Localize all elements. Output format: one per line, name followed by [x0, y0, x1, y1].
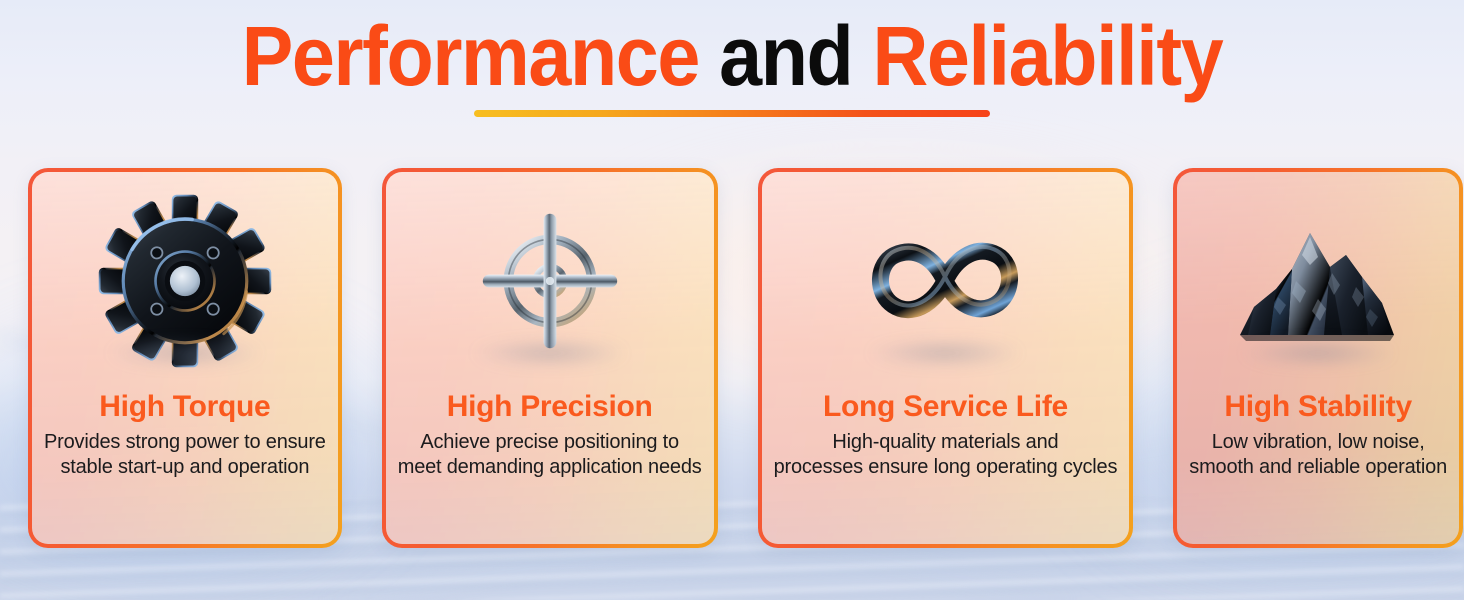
feature-card-body: High Precision Achieve precise positioni…: [386, 172, 714, 544]
card-description-line-1: Provides strong power to ensure: [44, 430, 326, 455]
feature-card-row: High Torque Provides strong power to ens…: [28, 168, 1438, 548]
icon-stage: [762, 172, 1130, 390]
card-description-line-1: Achieve precise positioning to: [398, 430, 702, 455]
icon-stage: [32, 172, 338, 390]
headline-block: Performance and Reliability: [0, 14, 1464, 117]
card-title: Long Service Life: [774, 390, 1118, 425]
card-description-line-2: meet demanding application needs: [398, 455, 702, 480]
feature-card-body: High Torque Provides strong power to ens…: [32, 172, 338, 544]
page-title: Performance and Reliability: [59, 14, 1406, 100]
feature-card-body: High Stability Low vibration, low noise,…: [1177, 172, 1459, 544]
card-description: Achieve precise positioning to meet dema…: [398, 430, 702, 480]
card-text-block: High Precision Achieve precise positioni…: [386, 390, 714, 496]
icon-stage: [386, 172, 714, 390]
card-description-line-2: stable start-up and operation: [44, 455, 326, 480]
mountain-rock-icon: [1230, 211, 1406, 351]
card-description: Low vibration, low noise, smooth and rel…: [1189, 430, 1447, 480]
card-text-block: High Torque Provides strong power to ens…: [32, 390, 338, 496]
feature-card-high-precision[interactable]: High Precision Achieve precise positioni…: [382, 168, 718, 548]
title-underline-accent: [474, 110, 990, 117]
icon-drop-shadow: [1243, 340, 1393, 366]
page-title-part-performance: Performance: [242, 9, 719, 103]
icon-drop-shadow: [870, 340, 1020, 366]
page-title-part-and: and: [719, 9, 852, 103]
card-text-block: High Stability Low vibration, low noise,…: [1177, 390, 1459, 496]
icon-drop-shadow: [110, 340, 260, 366]
card-description-line-1: High-quality materials and: [774, 430, 1118, 455]
feature-card-high-torque[interactable]: High Torque Provides strong power to ens…: [28, 168, 342, 548]
card-description-line-2: smooth and reliable operation: [1189, 455, 1447, 480]
card-description-line-1: Low vibration, low noise,: [1189, 430, 1447, 455]
feature-card-high-stability[interactable]: High Stability Low vibration, low noise,…: [1173, 168, 1463, 548]
promo-banner: Performance and Reliability: [0, 0, 1464, 600]
card-description: High-quality materials and processes ens…: [774, 430, 1118, 480]
crosshair-icon: [470, 201, 630, 361]
feature-card-long-service-life[interactable]: Long Service Life High-quality materials…: [758, 168, 1134, 548]
card-description-line-2: processes ensure long operating cycles: [774, 455, 1118, 480]
card-description: Provides strong power to ensure stable s…: [44, 430, 326, 480]
infinity-icon: [855, 225, 1035, 337]
card-text-block: Long Service Life High-quality materials…: [762, 390, 1130, 496]
icon-drop-shadow: [475, 340, 625, 366]
card-title: High Torque: [44, 390, 326, 425]
icon-stage: [1177, 172, 1459, 390]
card-title: High Stability: [1189, 390, 1447, 425]
card-title: High Precision: [398, 390, 702, 425]
feature-card-body: Long Service Life High-quality materials…: [762, 172, 1130, 544]
page-title-part-reliability: Reliability: [852, 9, 1222, 103]
